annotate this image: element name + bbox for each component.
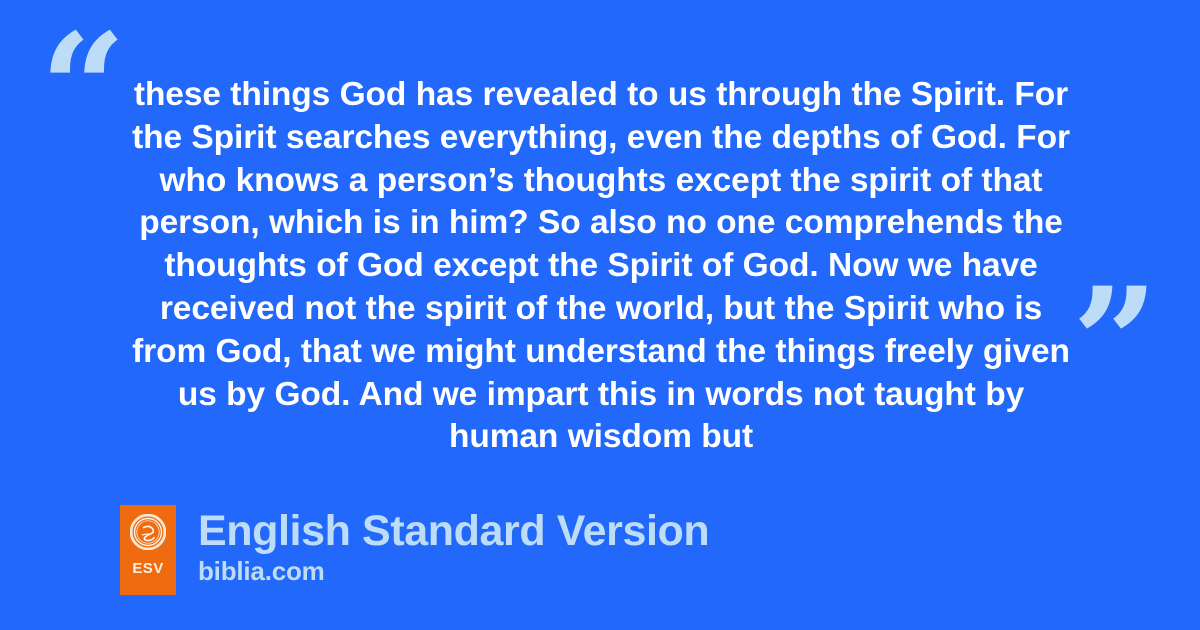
closing-quote-mark-icon: ” (1072, 268, 1158, 418)
bible-version-title: English Standard Version (198, 507, 709, 555)
esv-logo-label: ESV (132, 561, 163, 576)
esv-logo[interactable]: ESV (120, 505, 176, 595)
brand-footer[interactable]: ESV English Standard Version biblia.com (120, 505, 709, 595)
esv-seal-medallion-icon (130, 514, 166, 550)
quote-text: these things God has revealed to us thro… (120, 74, 1082, 459)
brand-text-group: English Standard Version biblia.com (198, 505, 709, 586)
quote-block: “ these things God has revealed to us th… (0, 0, 1200, 470)
quote-card: “ these things God has revealed to us th… (0, 0, 1200, 630)
opening-quote-mark-icon: “ (40, 14, 126, 164)
site-url[interactable]: biblia.com (198, 556, 709, 586)
